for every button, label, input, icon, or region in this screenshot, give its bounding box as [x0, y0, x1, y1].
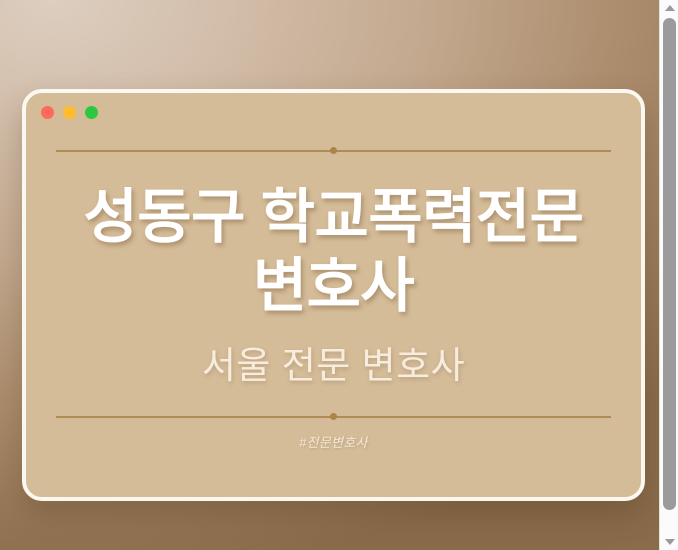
scroll-down-arrow-icon[interactable]	[660, 534, 678, 550]
scroll-up-arrow-icon[interactable]	[660, 0, 678, 16]
divider-top	[56, 149, 611, 152]
minimize-button-icon[interactable]	[63, 106, 76, 119]
page-canvas: 성동구 학교폭력전문 변호사 서울 전문 변호사 #전문변호사	[0, 0, 659, 550]
maximize-button-icon[interactable]	[85, 106, 98, 119]
browser-viewport: 성동구 학교폭력전문 변호사 서울 전문 변호사 #전문변호사	[0, 0, 678, 550]
page-subtitle: 서울 전문 변호사	[202, 344, 465, 388]
scrollbar-thumb[interactable]	[663, 18, 676, 510]
page-title: 성동구 학교폭력전문 변호사	[54, 183, 614, 322]
chevron-down-icon	[665, 539, 675, 545]
browser-mockup-card: 성동구 학교폭력전문 변호사 서울 전문 변호사 #전문변호사	[22, 89, 645, 501]
vertical-scrollbar[interactable]	[659, 0, 678, 550]
headline-block: 성동구 학교폭력전문 변호사 서울 전문 변호사	[52, 152, 615, 415]
divider-node-icon	[330, 413, 337, 420]
traffic-light-group	[41, 106, 98, 119]
divider-node-icon	[330, 147, 337, 154]
close-button-icon[interactable]	[41, 106, 54, 119]
divider-bottom	[56, 415, 611, 418]
chevron-up-icon	[665, 5, 675, 11]
hashtag-label: #전문변호사	[52, 418, 615, 451]
card-body: 성동구 학교폭력전문 변호사 서울 전문 변호사 #전문변호사	[26, 133, 641, 497]
